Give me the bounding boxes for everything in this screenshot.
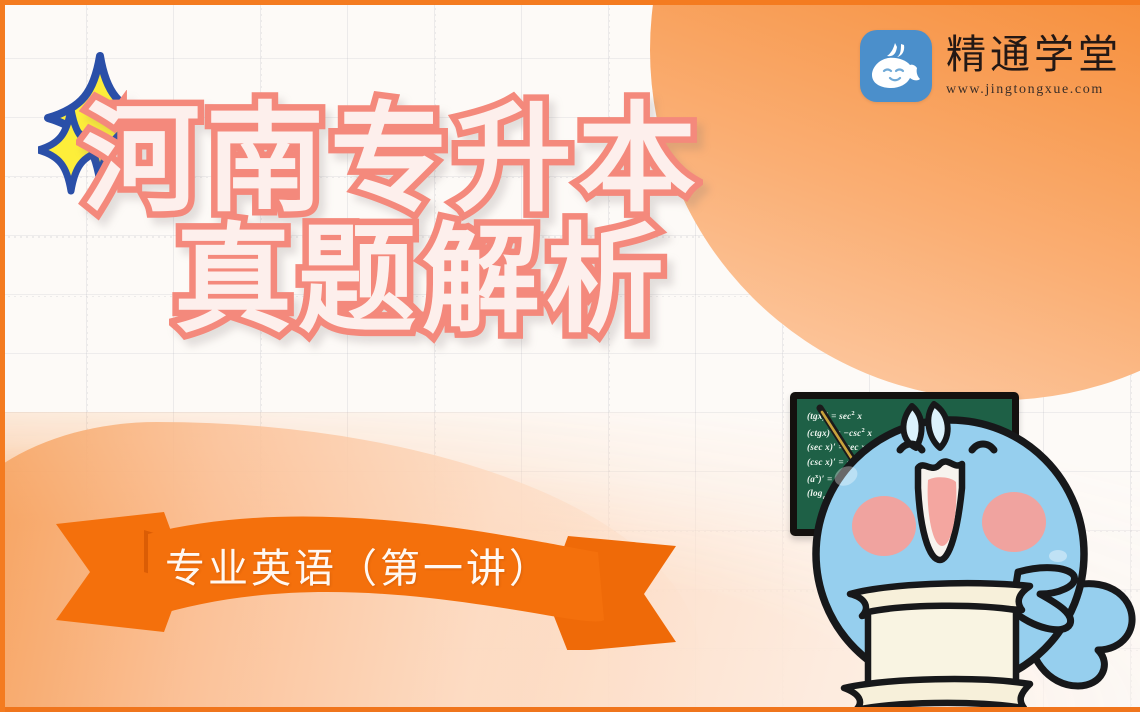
brand-logo[interactable]: 精通学堂 www.jingtongxue.com <box>860 30 1122 102</box>
frame-border-top <box>0 0 1140 5</box>
title-line-2: 真题解析 <box>174 217 702 344</box>
whale-cheek-left <box>852 496 916 556</box>
brand-url: www.jingtongxue.com <box>946 83 1104 97</box>
poster-title: 河南专升本 真题解析 <box>82 96 702 345</box>
whale-icon <box>868 40 924 92</box>
frame-border-left <box>0 0 5 712</box>
whale-mascot <box>782 398 1140 712</box>
frame-border-bottom <box>0 707 1140 712</box>
brand-name: 精通学堂 <box>946 35 1122 75</box>
poster-canvas: 河南专升本 真题解析 (tgx)′ = sec2 x (ctgx)′ = −cs… <box>0 0 1140 712</box>
scroll-bottom <box>844 679 1030 710</box>
logo-text: 精通学堂 www.jingtongxue.com <box>946 35 1122 97</box>
logo-mark <box>860 30 932 102</box>
lecture-title: 专业英语（第一讲） <box>165 536 552 594</box>
title-line-1: 河南专升本 <box>82 96 702 223</box>
whale-cheek-right <box>982 492 1046 552</box>
